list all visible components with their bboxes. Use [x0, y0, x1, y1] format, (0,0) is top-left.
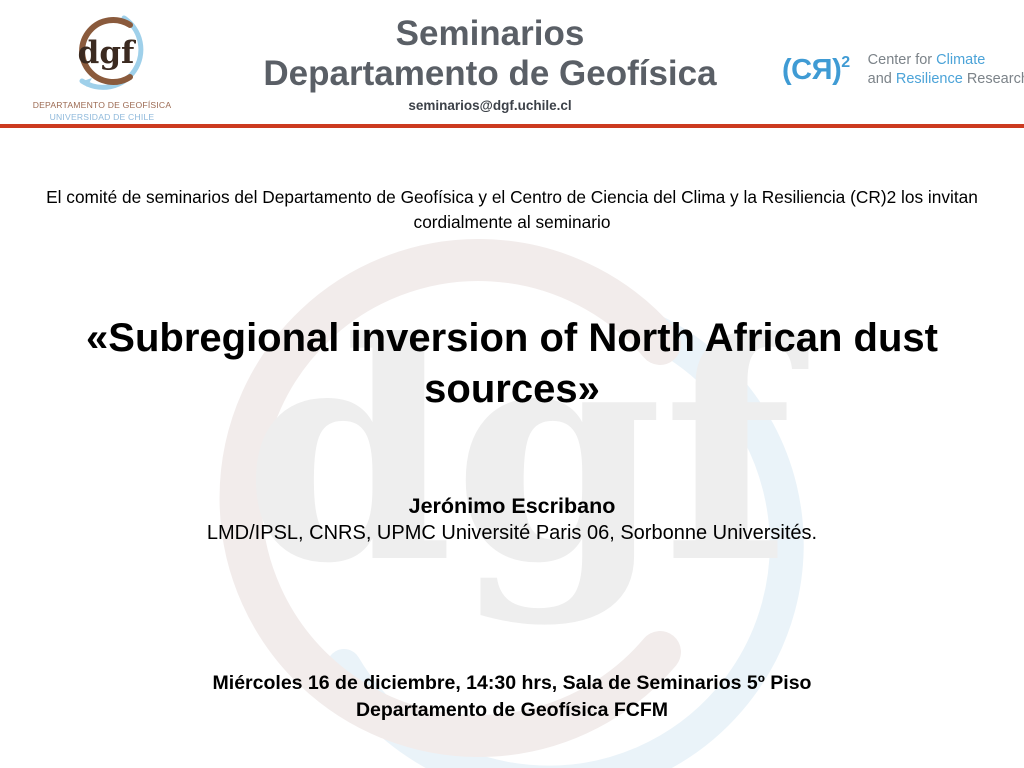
header-email: seminarios@dgf.uchile.cl — [200, 98, 780, 113]
dgf-caption-university: UNIVERSIDAD DE CHILE — [12, 112, 192, 122]
invitation-text: El comité de seminarios del Departamento… — [40, 185, 984, 235]
event-details: Miércoles 16 de diciembre, 14:30 hrs, Sa… — [62, 670, 962, 724]
poster-header: dgf DEPARTAMENTO DE GEOFÍSICA UNIVERSIDA… — [0, 0, 1024, 127]
cr2-logo: (CR)2 Center for Climate and Resilience … — [782, 44, 1018, 96]
cr2-logo-mark: (CR)2 — [782, 56, 859, 85]
cr2-wordmark-resilience: Resilience — [896, 71, 963, 87]
seminar-poster: dgf dgf DEPARTAMENTO DE GEOFÍSICA UNIVER… — [0, 0, 1024, 768]
event-venue: Departamento de Geofísica FCFM — [62, 697, 962, 724]
speaker-affiliation: LMD/IPSL, CNRS, UPMC Université Paris 06… — [62, 520, 962, 547]
header-title-line2: Departamento de Geofísica — [200, 54, 780, 94]
dgf-logo: dgf DEPARTAMENTO DE GEOFÍSICA UNIVERSIDA… — [12, 8, 192, 120]
cr2-wordmark-line1: Center for Climate — [868, 51, 1024, 70]
cr2-wordmark-and: and — [868, 71, 896, 87]
cr2-close-paren: ) — [832, 56, 841, 85]
header-red-divider — [0, 124, 1024, 128]
cr2-letter-c: C — [791, 56, 811, 85]
cr2-wordmark: Center for Climate and Resilience Resear… — [868, 51, 1024, 89]
header-title-line1: Seminarios — [200, 14, 780, 54]
cr2-wordmark-research: Research — [963, 71, 1024, 87]
cr2-wordmark-climate: Climate — [936, 52, 985, 68]
header-title-block: Seminarios Departamento de Geofísica sem… — [200, 14, 780, 113]
dgf-logo-text: dgf — [78, 35, 136, 71]
talk-title: «Subregional inversion of North African … — [72, 313, 952, 415]
dgf-caption-department: DEPARTAMENTO DE GEOFÍSICA — [12, 100, 192, 110]
invitation-line1: El comité de seminarios del Departamento… — [46, 187, 845, 207]
speaker-block: Jerónimo Escribano LMD/IPSL, CNRS, UPMC … — [62, 492, 962, 547]
speaker-name: Jerónimo Escribano — [62, 492, 962, 520]
cr2-exponent: 2 — [841, 55, 849, 71]
cr2-open-paren: ( — [782, 56, 791, 85]
poster-body: El comité de seminarios del Departamento… — [0, 127, 1024, 768]
cr2-letter-r: R — [812, 56, 832, 85]
cr2-wordmark-line2: and Resilience Research — [868, 70, 1024, 89]
event-datetime-location: Miércoles 16 de diciembre, 14:30 hrs, Sa… — [62, 670, 962, 697]
dgf-logo-mark: dgf — [52, 8, 160, 96]
cr2-wordmark-center-for: Center for — [868, 52, 937, 68]
